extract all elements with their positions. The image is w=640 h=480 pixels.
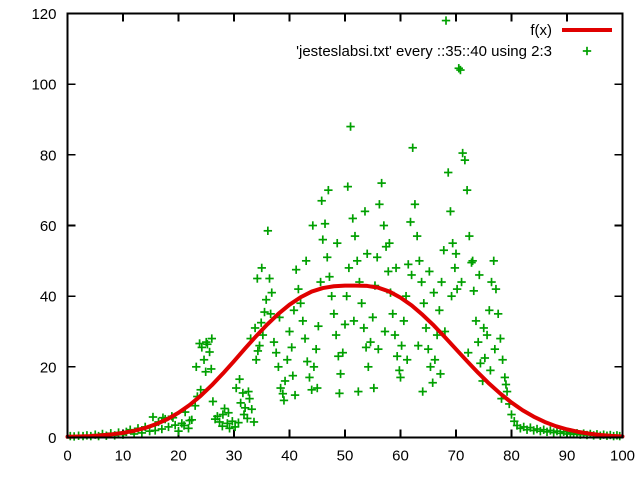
x-tick-label: 10 xyxy=(115,448,132,465)
x-tick-label: 40 xyxy=(281,448,298,465)
x-tick-label: 50 xyxy=(337,448,354,465)
y-tick-label: 40 xyxy=(40,289,57,306)
y-tick-label: 100 xyxy=(31,77,56,94)
x-tick-label: 90 xyxy=(559,448,576,465)
y-tick-label: 20 xyxy=(40,359,57,376)
y-tick-label: 60 xyxy=(40,218,57,235)
legend-label: f(x) xyxy=(530,22,552,39)
x-tick-label: 0 xyxy=(63,448,71,465)
plot-canvas: 020406080100120 0102030405060708090100 f… xyxy=(0,0,640,480)
x-tick-label: 30 xyxy=(226,448,243,465)
x-tick-label: 60 xyxy=(392,448,409,465)
legend-label: 'jesteslabsi.txt' every ::35::40 using 2… xyxy=(296,43,552,60)
x-tick-label: 70 xyxy=(448,448,465,465)
y-tick-label: 80 xyxy=(40,147,57,164)
y-tick-label: 0 xyxy=(48,430,56,447)
x-tick-label: 20 xyxy=(170,448,187,465)
x-tick-label: 100 xyxy=(610,448,635,465)
gnuplot-figure: 020406080100120 0102030405060708090100 f… xyxy=(0,0,640,480)
x-tick-label: 80 xyxy=(503,448,520,465)
y-tick-label: 120 xyxy=(31,6,56,23)
